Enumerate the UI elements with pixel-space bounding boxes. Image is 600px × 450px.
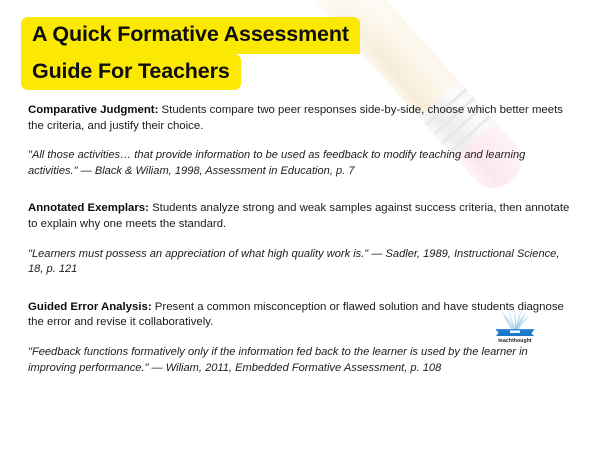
quote-citation: "Learners must possess an appreciation o… [28,247,576,278]
page-title: A Quick Formative Assessment Guide For T… [21,17,360,90]
strategy-lead: Annotated Exemplars: [28,202,149,214]
page-title-line-2: Guide For Teachers [21,54,241,91]
strategy-lead: Comparative Judgment: [28,104,158,116]
teachthought-wordmark: teachthought [488,338,542,344]
strategy-item: Comparative Judgment: Students compare t… [28,103,576,134]
strategy-item: Annotated Exemplars: Students analyze st… [28,201,576,232]
page-title-line-1: A Quick Formative Assessment [21,17,360,54]
quote-citation: "Feedback functions formatively only if … [28,345,576,376]
feather-fan-ribbon-icon [488,307,542,337]
strategy-lead: Guided Error Analysis: [28,301,152,313]
slide-canvas: A Quick Formative Assessment Guide For T… [0,0,600,450]
teachthought-logo: teachthought [488,307,542,349]
quote-citation: "All those activities… that provide info… [28,148,576,179]
